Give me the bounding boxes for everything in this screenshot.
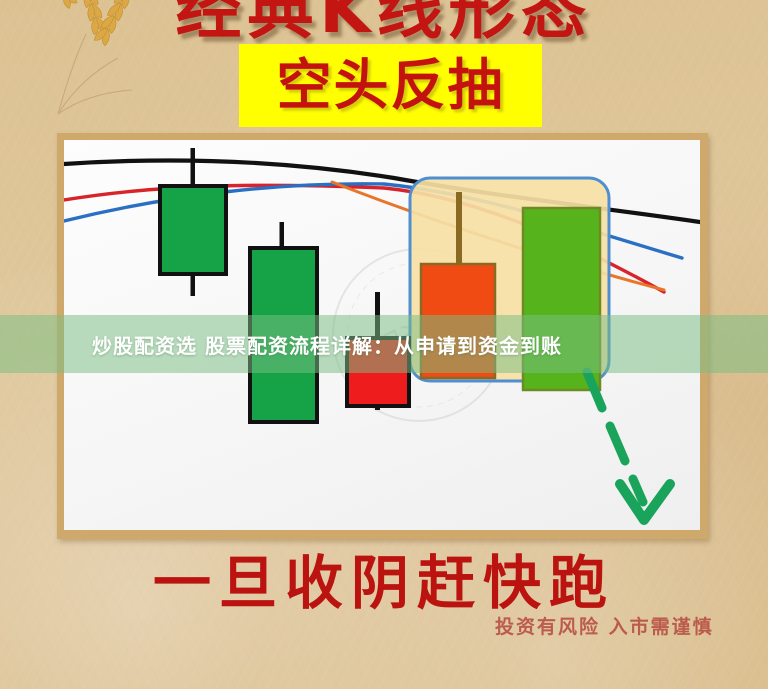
overlay-title-text: 炒股配资选 股票配资流程详解：从申请到资金到账 xyxy=(92,330,562,359)
subtitle-plaque: 空头反抽 xyxy=(239,44,542,127)
poster-canvas: 经典K线形态 空头反抽 配资网 xyxy=(0,0,768,689)
overlay-title-band: 炒股配资选 股票配资流程详解：从申请到资金到账 xyxy=(0,315,768,373)
risk-disclaimer: 投资有风险 入市需谨慎 xyxy=(495,612,714,639)
down-arrow-annotation xyxy=(587,372,670,520)
candle-1 xyxy=(160,148,226,296)
subtitle-text: 空头反抽 xyxy=(276,58,504,113)
poster-slogan: 一旦收阴赶快跑 xyxy=(0,536,768,620)
